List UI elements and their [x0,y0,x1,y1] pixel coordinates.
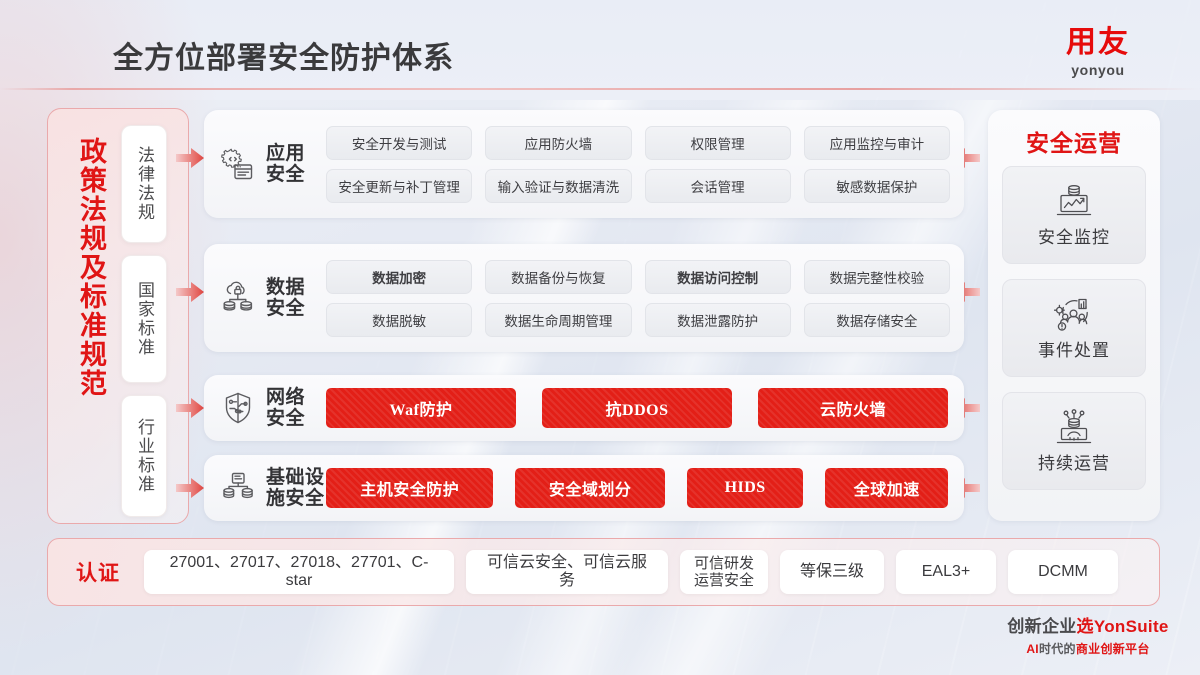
ops-card-label: 事件处置 [1038,336,1110,361]
gear-code-window-icon [218,144,258,184]
page-title: 全方位部署安全防护体系 [113,33,454,77]
footer-line1-red: 选YonSuite [1077,617,1169,636]
standard-item-label: 国家标准 [134,281,154,357]
shield-network-icon [218,388,258,428]
certification-bar: 认证 27001、27017、27018、27701、C-star 可信云安全、… [47,538,1160,606]
policy-panel: 政策法规及标准规范 法律法规 国家标准 行业标准 [47,108,189,524]
chip-global-acceleration[interactable]: 全球加速 [825,468,948,508]
incident-team-icon [1053,296,1095,334]
cert-chip-dcmm[interactable]: DCMM [1008,550,1118,594]
arrow-right-row3 [176,396,204,420]
footer-line2-red: 商业创新平台 [1076,642,1150,656]
chip-session-mgmt[interactable]: 会话管理 [645,169,791,203]
ops-card-label: 安全监控 [1038,223,1110,248]
chip-anti-ddos[interactable]: 抗DDOS [542,388,732,428]
footer-line2-dark: 时代的 [1039,642,1076,656]
row-label: 应用 安全 [266,143,305,186]
standard-item-industry[interactable]: 行业标准 [121,395,167,517]
chip-data-leak-prevention[interactable]: 数据泄露防护 [645,303,791,337]
ops-card-monitoring[interactable]: 安全监控 [1002,166,1146,264]
footer-line2: AI时代的商业创新平台 [988,640,1188,657]
chip-hids[interactable]: HIDS [687,468,804,508]
row-label: 数据 安全 [266,277,305,320]
chip-line: 安全开发与测试 应用防火墙 权限管理 应用监控与审计 [326,126,950,160]
row-head: 网络 安全 [204,387,326,430]
chip-red-line: 主机安全防护 安全域划分 HIDS 全球加速 [326,468,964,508]
chip-grid: 安全开发与测试 应用防火墙 权限管理 应用监控与审计 安全更新与补丁管理 输入验… [326,126,964,203]
row-head: 应用 安全 [204,143,326,186]
layer-row-network-security: 网络 安全 Waf防护 抗DDOS 云防火墙 [204,375,964,441]
server-database-tree-icon [218,468,258,508]
chip-data-masking[interactable]: 数据脱敏 [326,303,472,337]
chip-patch-mgmt[interactable]: 安全更新与补丁管理 [326,169,472,203]
chip-line: 数据脱敏 数据生命周期管理 数据泄露防护 数据存储安全 [326,303,950,337]
standard-item-national[interactable]: 国家标准 [121,255,167,383]
standards-column: 法律法规 国家标准 行业标准 [114,119,174,515]
chip-secure-dev-test[interactable]: 安全开发与测试 [326,126,472,160]
monitor-chart-icon [1053,183,1095,221]
chip-data-backup-recovery[interactable]: 数据备份与恢复 [485,260,631,294]
chip-permission-mgmt[interactable]: 权限管理 [645,126,791,160]
footer-line1: 创新企业选YonSuite [988,612,1188,637]
cert-chip-mlps-level3[interactable]: 等保三级 [780,550,884,594]
layer-row-data-security: 数据 安全 数据加密 数据备份与恢复 数据访问控制 数据完整性校验 数据脱敏 数… [204,244,964,352]
chip-data-lifecycle-mgmt[interactable]: 数据生命周期管理 [485,303,631,337]
chip-sensitive-data-protection[interactable]: 敏感数据保护 [804,169,950,203]
standard-item-label: 法律法规 [134,146,154,222]
chip-host-security[interactable]: 主机安全防护 [326,468,493,508]
brand-logo: 用友 yonyou [1038,28,1158,78]
layer-row-infrastructure-security: 基础设 施安全 主机安全防护 安全域划分 HIDS 全球加速 [204,455,964,521]
arrow-right-row2 [176,280,204,304]
chip-line: 安全更新与补丁管理 输入验证与数据清洗 会话管理 敏感数据保护 [326,169,950,203]
chip-line: 数据加密 数据备份与恢复 数据访问控制 数据完整性校验 [326,260,950,294]
layer-row-application-security: 应用 安全 安全开发与测试 应用防火墙 权限管理 应用监控与审计 安全更新与补丁… [204,110,964,218]
arrow-right-row4 [176,476,204,500]
cloud-lock-database-icon [218,278,258,318]
chip-data-storage-security[interactable]: 数据存储安全 [804,303,950,337]
cert-chip-iso[interactable]: 27001、27017、27018、27701、C-star [144,550,454,594]
continuous-ops-icon [1053,409,1095,447]
chip-app-monitor-audit[interactable]: 应用监控与审计 [804,126,950,160]
standard-item-label: 行业标准 [134,418,154,494]
chip-security-zoning[interactable]: 安全域划分 [515,468,664,508]
ops-card-label: 持续运营 [1038,449,1110,474]
chip-input-validation[interactable]: 输入验证与数据清洗 [485,169,631,203]
footer-line1-dark: 创新企业 [1007,617,1076,636]
certification-title: 认证 [62,557,132,587]
policy-panel-title: 政策法规及标准规范 [62,137,106,497]
brand-logo-en: yonyou [1038,62,1158,78]
chip-grid: 数据加密 数据备份与恢复 数据访问控制 数据完整性校验 数据脱敏 数据生命周期管… [326,260,964,337]
chip-data-integrity-check[interactable]: 数据完整性校验 [804,260,950,294]
chip-red-line: Waf防护 抗DDOS 云防火墙 [326,388,964,428]
ops-card-continuous-operations[interactable]: 持续运营 [1002,392,1146,490]
standard-item-legal[interactable]: 法律法规 [121,125,167,243]
row-head: 基础设 施安全 [204,467,326,510]
footer-line2-ai: AI [1026,642,1039,656]
chip-app-firewall[interactable]: 应用防火墙 [485,126,631,160]
security-operations-panel: 安全运营 安全监控 [988,110,1160,521]
arrow-right-row1 [176,146,204,170]
chip-data-access-control[interactable]: 数据访问控制 [645,260,791,294]
cert-chip-trusted-cloud[interactable]: 可信云安全、可信云服务 [466,550,668,594]
chip-cloud-firewall[interactable]: 云防火墙 [758,388,948,428]
cert-chip-eal3[interactable]: EAL3+ [896,550,996,594]
row-label: 基础设 施安全 [266,467,325,510]
ops-card-incident-handling[interactable]: 事件处置 [1002,279,1146,377]
header-divider [0,88,1200,90]
brand-logo-cn: 用友 [1038,28,1158,58]
chip-waf-protection[interactable]: Waf防护 [326,388,516,428]
ops-panel-title: 安全运营 [1002,124,1146,158]
cert-chip-trusted-devops[interactable]: 可信研发 运营安全 [680,550,768,594]
row-label: 网络 安全 [266,387,305,430]
chip-data-encryption[interactable]: 数据加密 [326,260,472,294]
row-head: 数据 安全 [204,277,326,320]
footer-slogan: 创新企业选YonSuite AI时代的商业创新平台 [988,612,1188,657]
page-header: 全方位部署安全防护体系 用友 yonyou [0,0,1200,94]
